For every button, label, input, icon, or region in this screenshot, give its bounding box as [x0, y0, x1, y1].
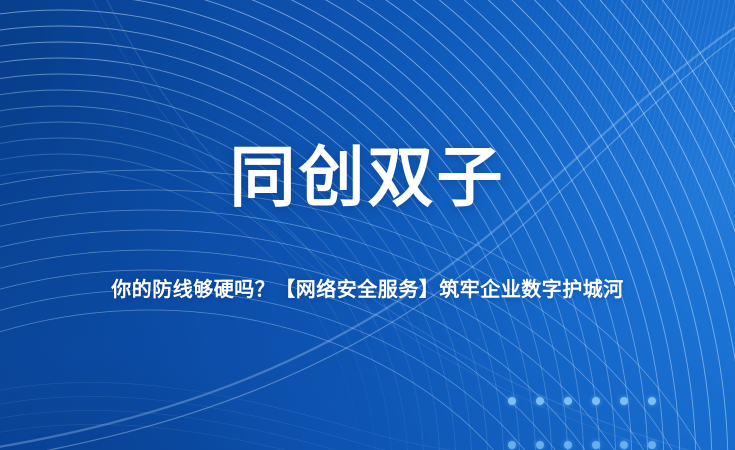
carousel-dot[interactable] — [620, 397, 628, 405]
carousel-dot[interactable] — [648, 441, 656, 449]
carousel-dot[interactable] — [592, 441, 600, 449]
carousel-dot[interactable] — [536, 397, 544, 405]
carousel-dot[interactable] — [508, 441, 516, 449]
banner-subtitle: 你的防线够硬吗？【网络安全服务】筑牢企业数字护城河 — [0, 277, 735, 303]
carousel-dot[interactable] — [536, 441, 544, 449]
carousel-dot[interactable] — [592, 397, 600, 405]
banner-content: 同创双子 你的防线够硬吗？【网络安全服务】筑牢企业数字护城河 — [0, 0, 735, 450]
carousel-dot[interactable] — [620, 441, 628, 449]
carousel-dot[interactable] — [564, 397, 572, 405]
carousel-dots[interactable] — [508, 397, 656, 405]
carousel-dot[interactable] — [648, 397, 656, 405]
carousel-dot[interactable] — [564, 441, 572, 449]
carousel-dots-secondary[interactable] — [508, 441, 656, 449]
promo-banner: 同创双子 你的防线够硬吗？【网络安全服务】筑牢企业数字护城河 — [0, 0, 735, 450]
banner-title: 同创双子 — [0, 138, 735, 216]
carousel-dot[interactable] — [508, 397, 516, 405]
